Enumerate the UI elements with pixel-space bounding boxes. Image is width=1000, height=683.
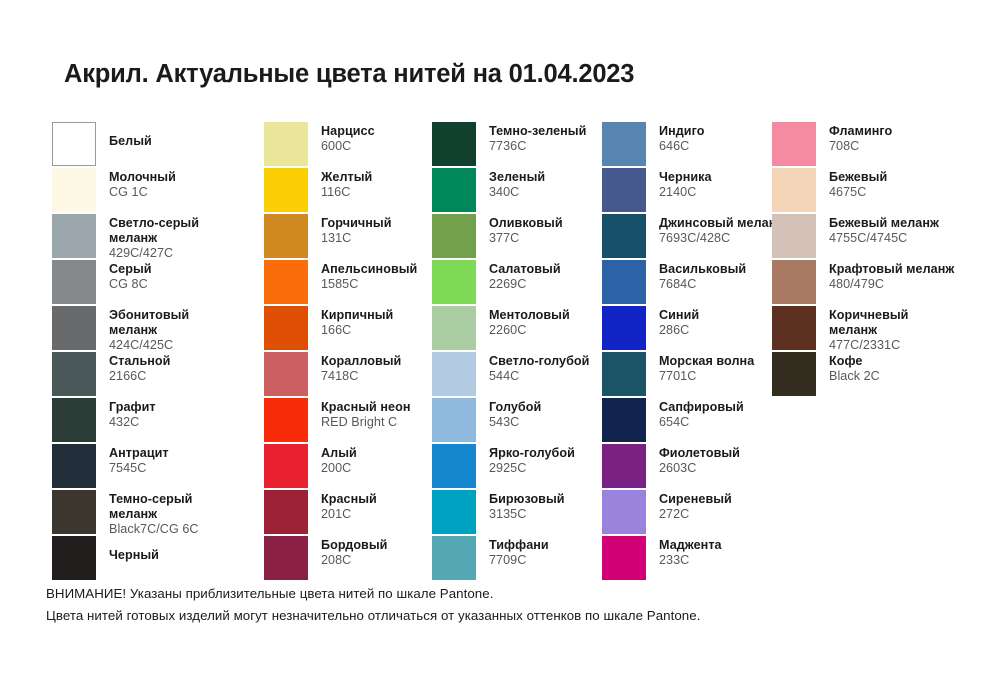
color-swatch bbox=[264, 168, 308, 212]
color-row: Черный bbox=[52, 536, 264, 582]
color-name: Коричневыймеланж bbox=[829, 308, 908, 338]
color-name: Сиреневый bbox=[659, 492, 732, 507]
color-swatch bbox=[52, 168, 96, 212]
color-labels: Васильковый7684C bbox=[659, 260, 746, 292]
color-swatch bbox=[432, 122, 476, 166]
color-row: Графит432C bbox=[52, 398, 264, 444]
color-labels: Темно-серыймеланжBlack7C/CG 6C bbox=[109, 490, 199, 537]
color-labels: Морская волна7701C bbox=[659, 352, 754, 384]
color-labels: Кирпичный166C bbox=[321, 306, 393, 338]
pantone-code: Black 2C bbox=[829, 369, 880, 384]
color-name: Красный bbox=[321, 492, 377, 507]
color-name: Зеленый bbox=[489, 170, 545, 185]
color-labels: Горчичный131C bbox=[321, 214, 392, 246]
color-swatch bbox=[432, 536, 476, 580]
color-row: Тиффани7709C bbox=[432, 536, 602, 582]
color-row: Сиреневый272C bbox=[602, 490, 772, 536]
color-row: Черника2140C bbox=[602, 168, 772, 214]
color-column-3: Темно-зеленый7736CЗеленый340CОливковый37… bbox=[432, 122, 602, 582]
color-row: Темно-серыймеланжBlack7C/CG 6C bbox=[52, 490, 264, 536]
color-row: Фиолетовый2603C bbox=[602, 444, 772, 490]
pantone-code: 2140C bbox=[659, 185, 712, 200]
pantone-code: 600C bbox=[321, 139, 375, 154]
color-row: Салатовый2269C bbox=[432, 260, 602, 306]
pantone-code: 477C/2331C bbox=[829, 338, 908, 353]
color-name: Оливковый bbox=[489, 216, 563, 231]
pantone-code: 2603C bbox=[659, 461, 740, 476]
color-row: Ментоловый2260C bbox=[432, 306, 602, 352]
color-name: Бирюзовый bbox=[489, 492, 565, 507]
color-labels: Черный bbox=[109, 536, 159, 563]
color-name: Кофе bbox=[829, 354, 880, 369]
color-name: Васильковый bbox=[659, 262, 746, 277]
color-labels: Крафтовый меланж480/479C bbox=[829, 260, 954, 292]
pantone-code: CG 1C bbox=[109, 185, 176, 200]
color-row: Эбонитовыймеланж424C/425C bbox=[52, 306, 264, 352]
color-row: Зеленый340C bbox=[432, 168, 602, 214]
color-labels: Голубой543C bbox=[489, 398, 541, 430]
color-chart-page: Акрил. Актуальные цвета нитей на 01.04.2… bbox=[0, 0, 1000, 683]
color-name: Крафтовый меланж bbox=[829, 262, 954, 277]
color-labels: Сапфировый654C bbox=[659, 398, 744, 430]
color-labels: Светло-серыймеланж429C/427C bbox=[109, 214, 199, 261]
pantone-code: 2925C bbox=[489, 461, 575, 476]
color-labels: Апельсиновый1585C bbox=[321, 260, 417, 292]
color-name: Антрацит bbox=[109, 446, 169, 461]
color-labels: Антрацит7545C bbox=[109, 444, 169, 476]
color-swatch bbox=[52, 260, 96, 304]
pantone-code: 708C bbox=[829, 139, 892, 154]
color-name: Сапфировый bbox=[659, 400, 744, 415]
color-row: Голубой543C bbox=[432, 398, 602, 444]
color-name: Черника bbox=[659, 170, 712, 185]
color-swatch bbox=[772, 214, 816, 258]
color-name: Фламинго bbox=[829, 124, 892, 139]
color-swatch bbox=[264, 444, 308, 488]
color-labels: Коричневыймеланж477C/2331C bbox=[829, 306, 908, 353]
color-name: Графит bbox=[109, 400, 156, 415]
color-row: Апельсиновый1585C bbox=[264, 260, 432, 306]
color-name: Бежевый меланж bbox=[829, 216, 939, 231]
color-name: Бежевый bbox=[829, 170, 887, 185]
pantone-code: Black7C/CG 6C bbox=[109, 522, 199, 537]
color-swatch bbox=[432, 398, 476, 442]
color-row: Стальной2166C bbox=[52, 352, 264, 398]
pantone-code: 543C bbox=[489, 415, 541, 430]
color-name: Эбонитовыймеланж bbox=[109, 308, 189, 338]
color-labels: Коралловый7418C bbox=[321, 352, 401, 384]
color-swatch bbox=[52, 214, 96, 258]
color-row: Фламинго708C bbox=[772, 122, 952, 168]
pantone-code: RED Bright C bbox=[321, 415, 411, 430]
color-row: Синий286C bbox=[602, 306, 772, 352]
color-column-4: Индиго646CЧерника2140CДжинсовый меланж76… bbox=[602, 122, 772, 582]
color-labels: Темно-зеленый7736C bbox=[489, 122, 586, 154]
color-labels: Белый bbox=[109, 122, 152, 149]
pantone-code: 7418C bbox=[321, 369, 401, 384]
color-labels: Эбонитовыймеланж424C/425C bbox=[109, 306, 189, 353]
color-labels: Стальной2166C bbox=[109, 352, 170, 384]
color-labels: Красный201C bbox=[321, 490, 377, 522]
color-row: КофеBlack 2C bbox=[772, 352, 952, 398]
color-name: Кирпичный bbox=[321, 308, 393, 323]
color-row: Антрацит7545C bbox=[52, 444, 264, 490]
color-name: Апельсиновый bbox=[321, 262, 417, 277]
color-swatch bbox=[264, 352, 308, 396]
color-swatch bbox=[432, 490, 476, 534]
pantone-code: 208C bbox=[321, 553, 387, 568]
color-name: Алый bbox=[321, 446, 357, 461]
color-row: Горчичный131C bbox=[264, 214, 432, 260]
color-row: Сапфировый654C bbox=[602, 398, 772, 444]
color-swatch bbox=[264, 214, 308, 258]
pantone-code: 166C bbox=[321, 323, 393, 338]
color-name: Серый bbox=[109, 262, 152, 277]
pantone-code: 7693C/428C bbox=[659, 231, 785, 246]
color-name: Белый bbox=[109, 134, 152, 149]
pantone-code: 2269C bbox=[489, 277, 561, 292]
color-swatch bbox=[52, 122, 96, 166]
color-row: СерыйCG 8C bbox=[52, 260, 264, 306]
color-row: Бежевый4675C bbox=[772, 168, 952, 214]
color-row: Нарцисс600C bbox=[264, 122, 432, 168]
page-title: Акрил. Актуальные цвета нитей на 01.04.2… bbox=[64, 60, 634, 89]
color-row: Коралловый7418C bbox=[264, 352, 432, 398]
color-name: Темно-зеленый bbox=[489, 124, 586, 139]
color-labels: Светло-голубой544C bbox=[489, 352, 589, 384]
color-swatch bbox=[602, 490, 646, 534]
color-labels: Бордовый208C bbox=[321, 536, 387, 568]
color-swatch bbox=[432, 444, 476, 488]
pantone-code: 480/479C bbox=[829, 277, 954, 292]
color-row: Кирпичный166C bbox=[264, 306, 432, 352]
color-swatch bbox=[602, 260, 646, 304]
color-labels: Маджента233C bbox=[659, 536, 722, 568]
color-swatch bbox=[52, 536, 96, 580]
color-swatch bbox=[264, 122, 308, 166]
color-swatch bbox=[432, 214, 476, 258]
color-name: Горчичный bbox=[321, 216, 392, 231]
pantone-code: 7736C bbox=[489, 139, 586, 154]
color-name: Нарцисс bbox=[321, 124, 375, 139]
color-swatch bbox=[264, 490, 308, 534]
pantone-code: 116C bbox=[321, 185, 372, 200]
pantone-code: 1585C bbox=[321, 277, 417, 292]
color-name: Салатовый bbox=[489, 262, 561, 277]
color-row: Алый200C bbox=[264, 444, 432, 490]
pantone-code: CG 8C bbox=[109, 277, 152, 292]
pantone-code: 233C bbox=[659, 553, 722, 568]
color-swatch bbox=[264, 398, 308, 442]
color-labels: Синий286C bbox=[659, 306, 699, 338]
color-row: Ярко-голубой2925C bbox=[432, 444, 602, 490]
color-row: Желтый116C bbox=[264, 168, 432, 214]
color-name: Ментоловый bbox=[489, 308, 570, 323]
color-labels: Зеленый340C bbox=[489, 168, 545, 200]
color-swatch bbox=[264, 536, 308, 580]
color-labels: Ментоловый2260C bbox=[489, 306, 570, 338]
color-labels: Ярко-голубой2925C bbox=[489, 444, 575, 476]
color-swatch bbox=[772, 168, 816, 212]
color-name: Стальной bbox=[109, 354, 170, 369]
color-row: Бирюзовый3135C bbox=[432, 490, 602, 536]
color-row: Индиго646C bbox=[602, 122, 772, 168]
color-row: МолочныйCG 1C bbox=[52, 168, 264, 214]
color-swatch bbox=[432, 168, 476, 212]
color-name: Светло-серыймеланж bbox=[109, 216, 199, 246]
color-labels: КофеBlack 2C bbox=[829, 352, 880, 384]
color-labels: Черника2140C bbox=[659, 168, 712, 200]
color-swatch bbox=[772, 122, 816, 166]
color-labels: Нарцисс600C bbox=[321, 122, 375, 154]
color-name: Голубой bbox=[489, 400, 541, 415]
color-row: Темно-зеленый7736C bbox=[432, 122, 602, 168]
color-swatch bbox=[772, 352, 816, 396]
color-labels: СерыйCG 8C bbox=[109, 260, 152, 292]
color-name: Индиго bbox=[659, 124, 704, 139]
color-name: Фиолетовый bbox=[659, 446, 740, 461]
color-labels: Бирюзовый3135C bbox=[489, 490, 565, 522]
color-row: Оливковый377C bbox=[432, 214, 602, 260]
pantone-code: 4755C/4745C bbox=[829, 231, 939, 246]
color-row: Коричневыймеланж477C/2331C bbox=[772, 306, 952, 352]
pantone-code: 646C bbox=[659, 139, 704, 154]
pantone-code: 4675C bbox=[829, 185, 887, 200]
color-row: Красный201C bbox=[264, 490, 432, 536]
color-row: Маджента233C bbox=[602, 536, 772, 582]
color-name: Бордовый bbox=[321, 538, 387, 553]
color-row: Бордовый208C bbox=[264, 536, 432, 582]
pantone-code: 2166C bbox=[109, 369, 170, 384]
color-name: Джинсовый меланж bbox=[659, 216, 785, 231]
color-labels: Джинсовый меланж7693C/428C bbox=[659, 214, 785, 246]
color-labels: Алый200C bbox=[321, 444, 357, 476]
disclaimer-line-1: ВНИМАНИЕ! Указаны приблизительные цвета … bbox=[46, 583, 700, 605]
pantone-code: 131C bbox=[321, 231, 392, 246]
pantone-code: 3135C bbox=[489, 507, 565, 522]
color-column-1: БелыйМолочныйCG 1CСветло-серыймеланж429C… bbox=[52, 122, 264, 582]
color-swatch bbox=[432, 352, 476, 396]
color-swatch bbox=[602, 398, 646, 442]
pantone-code: 429C/427C bbox=[109, 246, 199, 261]
pantone-code: 7709C bbox=[489, 553, 549, 568]
color-name: Маджента bbox=[659, 538, 722, 553]
color-swatch bbox=[432, 260, 476, 304]
color-swatch bbox=[602, 352, 646, 396]
color-row: Светло-серыймеланж429C/427C bbox=[52, 214, 264, 260]
color-swatch bbox=[602, 214, 646, 258]
color-column-2: Нарцисс600CЖелтый116CГорчичный131CАпельс… bbox=[264, 122, 432, 582]
pantone-code: 7684C bbox=[659, 277, 746, 292]
color-swatch bbox=[52, 444, 96, 488]
color-labels: Тиффани7709C bbox=[489, 536, 549, 568]
color-column-5: Фламинго708CБежевый4675CБежевый меланж47… bbox=[772, 122, 952, 398]
color-name: Красный неон bbox=[321, 400, 411, 415]
color-labels: Бежевый4675C bbox=[829, 168, 887, 200]
pantone-code: 654C bbox=[659, 415, 744, 430]
pantone-code: 2260C bbox=[489, 323, 570, 338]
pantone-code: 200C bbox=[321, 461, 357, 476]
pantone-code: 201C bbox=[321, 507, 377, 522]
pantone-code: 432C bbox=[109, 415, 156, 430]
color-swatch bbox=[602, 444, 646, 488]
color-name: Тиффани bbox=[489, 538, 549, 553]
color-swatch bbox=[52, 490, 96, 534]
color-labels: Фламинго708C bbox=[829, 122, 892, 154]
color-columns-container: БелыйМолочныйCG 1CСветло-серыймеланж429C… bbox=[52, 122, 952, 582]
color-name: Морская волна bbox=[659, 354, 754, 369]
color-swatch bbox=[602, 122, 646, 166]
color-labels: Индиго646C bbox=[659, 122, 704, 154]
color-swatch bbox=[52, 352, 96, 396]
color-name: Коралловый bbox=[321, 354, 401, 369]
color-swatch bbox=[52, 398, 96, 442]
color-row: Бежевый меланж4755C/4745C bbox=[772, 214, 952, 260]
color-labels: Салатовый2269C bbox=[489, 260, 561, 292]
color-swatch bbox=[772, 306, 816, 350]
pantone-code: 377C bbox=[489, 231, 563, 246]
color-swatch bbox=[432, 306, 476, 350]
pantone-code: 7545C bbox=[109, 461, 169, 476]
color-name: Синий bbox=[659, 308, 699, 323]
color-labels: Оливковый377C bbox=[489, 214, 563, 246]
pantone-code: 424C/425C bbox=[109, 338, 189, 353]
disclaimer-footer: ВНИМАНИЕ! Указаны приблизительные цвета … bbox=[46, 583, 700, 626]
disclaimer-line-2: Цвета нитей готовых изделий могут незнач… bbox=[46, 605, 700, 627]
color-swatch bbox=[264, 306, 308, 350]
color-row: Васильковый7684C bbox=[602, 260, 772, 306]
color-name: Ярко-голубой bbox=[489, 446, 575, 461]
pantone-code: 544C bbox=[489, 369, 589, 384]
pantone-code: 340C bbox=[489, 185, 545, 200]
color-labels: Графит432C bbox=[109, 398, 156, 430]
color-labels: Желтый116C bbox=[321, 168, 372, 200]
color-name: Темно-серыймеланж bbox=[109, 492, 199, 522]
color-row: Морская волна7701C bbox=[602, 352, 772, 398]
color-swatch bbox=[52, 306, 96, 350]
color-labels: МолочныйCG 1C bbox=[109, 168, 176, 200]
color-swatch bbox=[602, 168, 646, 212]
color-swatch bbox=[772, 260, 816, 304]
color-labels: Сиреневый272C bbox=[659, 490, 732, 522]
pantone-code: 272C bbox=[659, 507, 732, 522]
color-name: Черный bbox=[109, 548, 159, 563]
color-row: Красный неонRED Bright C bbox=[264, 398, 432, 444]
pantone-code: 7701C bbox=[659, 369, 754, 384]
color-row: Светло-голубой544C bbox=[432, 352, 602, 398]
color-swatch bbox=[602, 536, 646, 580]
color-labels: Красный неонRED Bright C bbox=[321, 398, 411, 430]
pantone-code: 286C bbox=[659, 323, 699, 338]
color-swatch bbox=[602, 306, 646, 350]
color-row: Крафтовый меланж480/479C bbox=[772, 260, 952, 306]
color-labels: Фиолетовый2603C bbox=[659, 444, 740, 476]
color-row: Белый bbox=[52, 122, 264, 168]
color-row: Джинсовый меланж7693C/428C bbox=[602, 214, 772, 260]
color-name: Светло-голубой bbox=[489, 354, 589, 369]
color-name: Молочный bbox=[109, 170, 176, 185]
color-swatch bbox=[264, 260, 308, 304]
color-name: Желтый bbox=[321, 170, 372, 185]
color-labels: Бежевый меланж4755C/4745C bbox=[829, 214, 939, 246]
